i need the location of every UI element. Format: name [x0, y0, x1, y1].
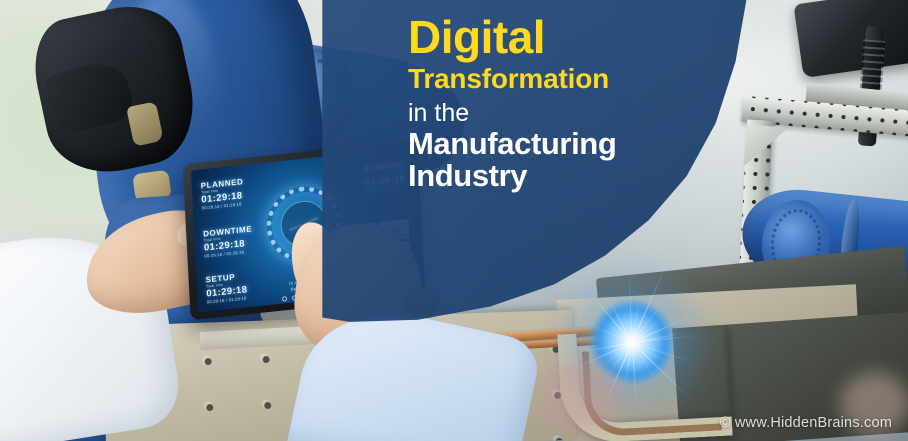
watermark: © www.HiddenBrains.com: [720, 415, 892, 431]
banner: PLANNED Total time 01:29:18 00:29:18 / 0…: [0, 0, 908, 441]
bokeh-blob-1: [540, 360, 620, 430]
headline-line-3: in the: [408, 100, 738, 126]
metric-setup: SETUP Total time 01:29:18 00:29:18 / 01:…: [205, 271, 248, 304]
headline-line-4: Manufacturing: [408, 128, 738, 160]
headline-line-1: Digital: [408, 14, 738, 62]
headline-line-2: Transformation: [408, 64, 738, 93]
headline-line-5: Industry: [408, 160, 738, 192]
metric-downtime: DOWNTIME Total time 01:29:18 00:29:18 / …: [203, 224, 254, 258]
headline-block: Digital Transformation in the Manufactur…: [408, 14, 738, 192]
nav-dot-1[interactable]: [282, 296, 287, 302]
metric-planned: PLANNED Total time 01:29:18 00:29:18 / 0…: [200, 177, 244, 210]
